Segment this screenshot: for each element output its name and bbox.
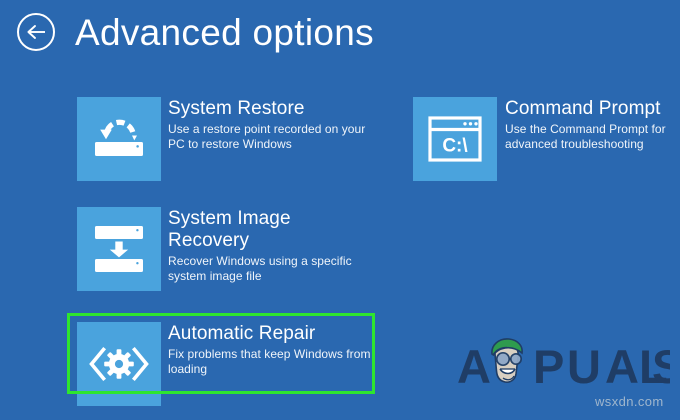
watermark: A P U A L S [455,336,670,394]
appuals-mascot-face [492,339,522,382]
watermark-url: wsxdn.com [595,394,664,409]
option-description: Use the Command Prompt for advanced trou… [505,122,668,152]
page-title: Advanced options [75,4,374,62]
option-system-image-recovery[interactable]: System Image Recovery Recover Windows us… [77,207,377,291]
option-title: System Image Recovery [168,208,377,252]
svg-text:U: U [567,340,602,393]
system-restore-text: System Restore Use a restore point recor… [168,97,377,152]
command-prompt-icon-text: C:\ [442,136,468,157]
option-title: System Restore [168,98,377,120]
svg-text:S: S [652,340,670,393]
svg-text:A: A [605,340,640,393]
command-prompt-tile[interactable]: C:\ [413,97,497,181]
svg-text:P: P [533,340,565,393]
automatic-repair-tile[interactable] [77,322,161,406]
option-automatic-repair[interactable]: Automatic Repair Fix problems that keep … [77,322,377,406]
appuals-logo-icon: A P U A L S [455,336,670,399]
automatic-repair-text: Automatic Repair Fix problems that keep … [168,322,377,377]
option-description: Recover Windows using a specific system … [168,254,377,284]
option-description: Fix problems that keep Windows from load… [168,347,377,377]
option-title: Command Prompt [505,98,668,120]
back-button[interactable] [17,13,55,51]
back-arrow-icon [25,24,47,40]
svg-text:A: A [457,340,492,393]
system-restore-tile[interactable] [77,97,161,181]
option-title: Automatic Repair [168,323,377,345]
system-image-recovery-tile[interactable] [77,207,161,291]
header-bar: Advanced options [0,0,680,72]
option-description: Use a restore point recorded on your PC … [168,122,377,152]
option-system-restore[interactable]: System Restore Use a restore point recor… [77,97,377,181]
system-image-recovery-text: System Image Recovery Recover Windows us… [168,207,377,284]
command-prompt-text: Command Prompt Use the Command Prompt fo… [505,97,668,152]
option-command-prompt[interactable]: C:\ Command Prompt Use the Command Promp… [413,97,668,181]
